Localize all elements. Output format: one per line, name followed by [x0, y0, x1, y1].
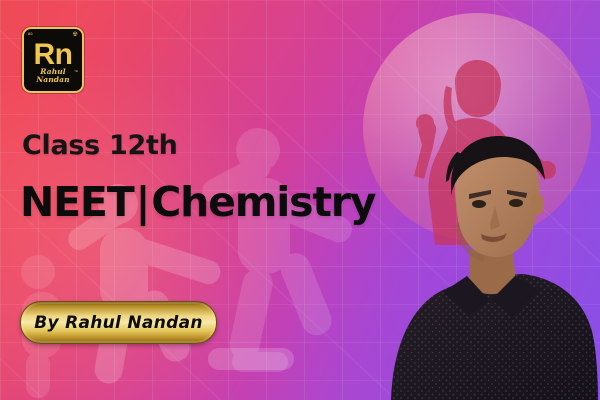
brand-logo[interactable]: 86 ☢ Rn ™ Rahul Nandan — [22, 27, 84, 93]
logo-atomic-number: 86 — [28, 32, 33, 36]
author-badge[interactable]: By Rahul Nandan — [20, 301, 217, 344]
class-kicker: Class 12th — [22, 131, 178, 161]
course-headline: NEET|Chemistry — [20, 178, 375, 226]
headline-separator: | — [134, 178, 152, 226]
headline-exam: NEET — [20, 178, 134, 226]
headline-subject: Chemistry — [151, 178, 375, 226]
radiation-icon: ☢ — [72, 32, 78, 38]
author-badge-label: By Rahul Nandan — [34, 314, 203, 332]
logo-subtitle-text: Rahul Nandan — [24, 68, 82, 84]
logo-symbol-text: Rn — [24, 40, 82, 70]
instructor-portrait — [385, 130, 600, 400]
course-thumbnail: 86 ☢ Rn ™ Rahul Nandan Class 12th NEET|C… — [0, 0, 600, 400]
